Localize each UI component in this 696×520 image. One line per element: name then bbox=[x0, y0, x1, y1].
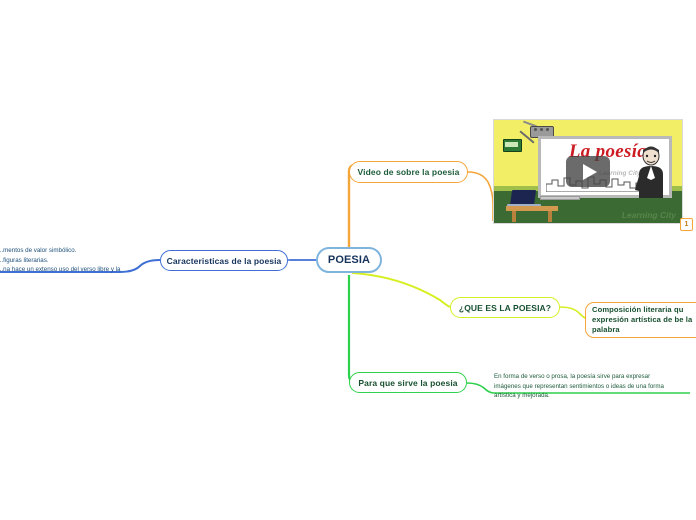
teacher-figure-icon bbox=[634, 146, 668, 198]
video-thumbnail[interactable]: La poesía Learning City Learning City bbox=[493, 119, 683, 224]
desk-leg-left-icon bbox=[512, 211, 516, 222]
callout-composicion-literaria[interactable]: Composición literaria qu expresión artís… bbox=[585, 302, 696, 338]
node-para-que-sirve[interactable]: Para que sirve la poesia bbox=[349, 372, 467, 393]
node-root[interactable]: POESIA bbox=[316, 247, 382, 273]
projector-dial-icon bbox=[540, 128, 543, 131]
whiteboard-tray bbox=[540, 196, 580, 200]
projector-dial2-icon bbox=[546, 128, 549, 131]
node-caracteristicas[interactable]: Caracteristicas de la poesia bbox=[160, 250, 288, 271]
play-icon[interactable] bbox=[583, 164, 597, 180]
projector-lens-icon bbox=[534, 128, 537, 131]
note-para-que-sirve: En forma de verso o prosa, la poesía sir… bbox=[494, 372, 674, 401]
mindmap-canvas: La poesía Learning City Learning City 1 bbox=[0, 0, 696, 520]
note-caracteristicas: ...mentos de valor simbólico. ...figuras… bbox=[0, 246, 122, 275]
node-que-es-la-poesia[interactable]: ¿QUE ES LA POESIA? bbox=[450, 297, 560, 318]
video-watermark: Learning City bbox=[622, 210, 676, 220]
node-badge[interactable]: 1 bbox=[680, 218, 693, 231]
desk-leg-right-icon bbox=[548, 211, 552, 222]
node-video[interactable]: Video de sobre la poesia bbox=[349, 161, 468, 183]
exit-sign-inner-icon bbox=[505, 142, 518, 147]
